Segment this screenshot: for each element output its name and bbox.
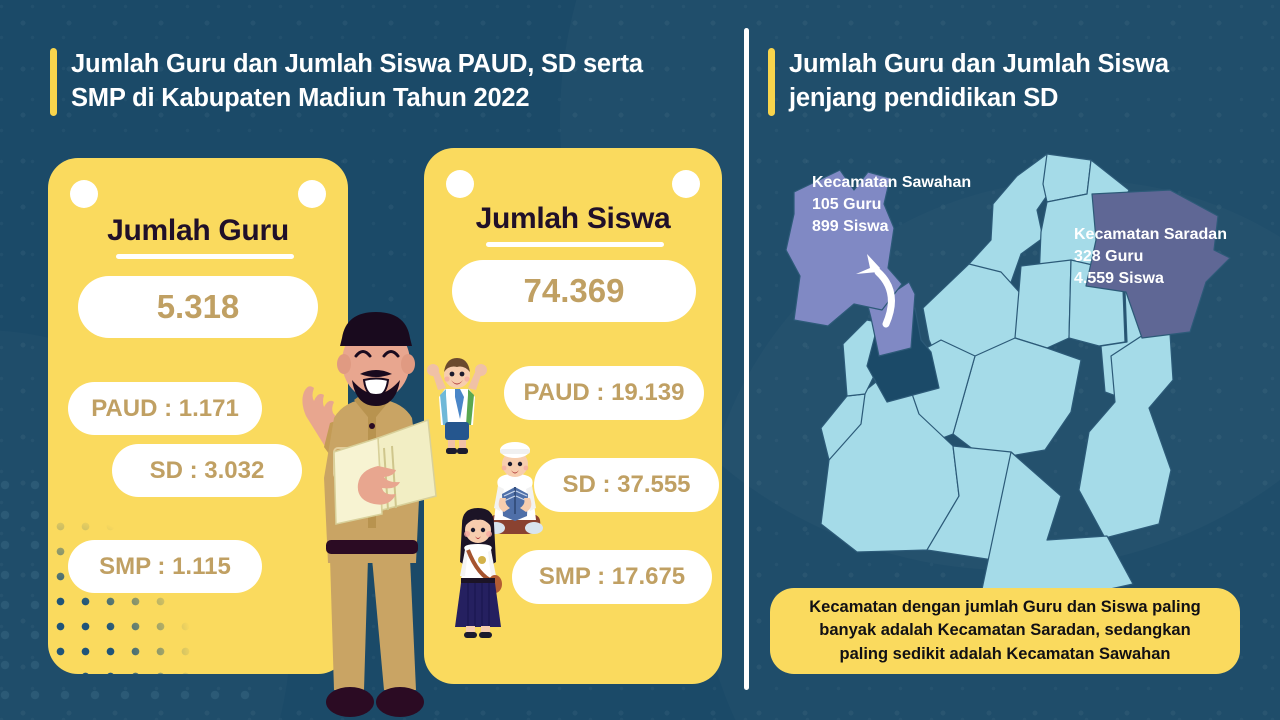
- panel-divider: [744, 28, 749, 690]
- punch-hole-right-icon: [298, 180, 326, 208]
- map-label-sawahan: Kecamatan Sawahan 105 Guru 899 Siswa: [812, 172, 971, 238]
- card-siswa-total-pill: 74.369: [452, 260, 696, 322]
- left-panel-title: Jumlah Guru dan Jumlah Siswa PAUD, SD se…: [50, 48, 710, 116]
- card-guru-sd-pill: SD : 3.032: [112, 444, 302, 497]
- card-guru-underline: [116, 254, 294, 259]
- summary-note-box: Kecamatan dengan jumlah Guru dan Siswa p…: [770, 588, 1240, 674]
- left-title-text: Jumlah Guru dan Jumlah Siswa PAUD, SD se…: [71, 48, 643, 116]
- title-accent-bar: [50, 48, 57, 116]
- card-siswa-sd-pill: SD : 37.555: [534, 458, 719, 512]
- stat-card-siswa: Jumlah Siswa 74.369 PAUD : 19.139 SD : 3…: [424, 148, 722, 684]
- map-district-generic: [1015, 260, 1071, 348]
- infographic-canvas: Jumlah Guru dan Jumlah Siswa PAUD, SD se…: [0, 0, 1280, 720]
- stat-card-guru: Jumlah Guru 5.318 PAUD : 1.171 SD : 3.03…: [48, 158, 348, 674]
- map-district-generic: [1079, 318, 1173, 538]
- right-title-text: Jumlah Guru dan Jumlah Siswa jenjang pen…: [789, 48, 1169, 116]
- card-siswa-underline: [486, 242, 664, 247]
- card-guru-paud-pill: PAUD : 1.171: [68, 382, 262, 435]
- card-siswa-paud-pill: PAUD : 19.139: [504, 366, 704, 420]
- title-accent-bar: [768, 48, 775, 116]
- card-siswa-heading: Jumlah Siswa: [424, 202, 722, 236]
- card-guru-total-pill: 5.318: [78, 276, 318, 338]
- punch-hole-left-icon: [446, 170, 474, 198]
- right-panel-title: Jumlah Guru dan Jumlah Siswa jenjang pen…: [768, 48, 1238, 116]
- card-guru-smp-pill: SMP : 1.115: [68, 540, 262, 593]
- summary-note-text: Kecamatan dengan jumlah Guru dan Siswa p…: [809, 596, 1201, 666]
- punch-hole-left-icon: [70, 180, 98, 208]
- card-guru-heading: Jumlah Guru: [48, 214, 348, 248]
- punch-hole-right-icon: [672, 170, 700, 198]
- map-label-saradan: Kecamatan Saradan 328 Guru 4.559 Siswa: [1074, 224, 1227, 290]
- card-siswa-smp-pill: SMP : 17.675: [512, 550, 712, 604]
